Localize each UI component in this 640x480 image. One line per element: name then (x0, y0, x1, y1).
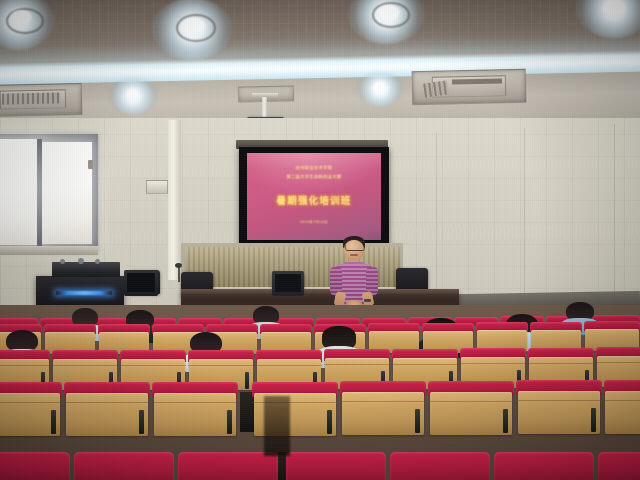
downlight-core-4 (602, 0, 626, 15)
slide-subtitle-1: 台州职业技术学院 (247, 165, 381, 171)
center-aisle-shadow (264, 396, 290, 456)
projector-mount-pole (262, 96, 267, 118)
microphone-head-icon (175, 263, 182, 268)
ac-cassette-right-vent (452, 78, 502, 84)
seat[interactable] (340, 381, 426, 435)
downlight-core-6 (373, 82, 385, 91)
seat[interactable] (390, 452, 490, 480)
front-desk-top (181, 289, 459, 294)
slide-footer: 2014年7月12日 (247, 220, 381, 225)
mixer-knob-3[interactable] (95, 259, 100, 264)
seat[interactable] (152, 382, 238, 436)
downlight-core-1 (10, 10, 32, 24)
seat[interactable] (178, 452, 278, 480)
downlight-core-2 (182, 18, 206, 33)
slide-subtitle-2: 第二届大学生创新创业大赛 (247, 174, 381, 180)
mixer-knob-2[interactable] (78, 258, 84, 264)
projector-ceiling-plate (252, 93, 278, 97)
av-monitor-right-screen (275, 274, 301, 292)
seat[interactable] (598, 452, 640, 480)
seat-gap (278, 452, 286, 480)
seat[interactable] (516, 380, 602, 434)
seat-row-nearest (0, 452, 640, 480)
ac-cassette-left-grille (2, 92, 60, 104)
wall-fixture-small (88, 160, 93, 169)
slide-title: 暑期强化培训班 (247, 193, 381, 207)
mixer-knob-1[interactable] (60, 259, 65, 264)
seat[interactable] (494, 452, 594, 480)
wall-column (168, 120, 181, 280)
wall-plaque (146, 180, 168, 194)
seat[interactable] (74, 452, 174, 480)
wall-seam-1 (524, 128, 525, 308)
seat[interactable] (64, 382, 150, 436)
seat[interactable] (0, 452, 70, 480)
seat[interactable] (428, 381, 514, 435)
microphone-stand (178, 266, 180, 282)
seat[interactable] (0, 382, 62, 436)
seat-row-1 (0, 378, 640, 436)
av-indicator-led (56, 291, 112, 295)
audio-mixer[interactable] (52, 262, 120, 277)
seat[interactable] (604, 380, 640, 434)
downlight-core-5 (126, 89, 139, 99)
lecture-hall-photo: 台州职业技术学院 第二届大学生创新创业大赛 暑期强化培训班 2014年7月12日 (0, 0, 640, 480)
downlight-core-3 (377, 5, 400, 19)
projection-screen[interactable]: 台州职业技术学院 第二届大学生创新创业大赛 暑期强化培训班 2014年7月12日 (247, 153, 381, 241)
wall-seam-2 (614, 124, 615, 309)
window-glare (0, 130, 110, 260)
wall-seam-3 (436, 132, 437, 307)
seat[interactable] (286, 452, 386, 480)
av-monitor-left-screen (127, 273, 155, 292)
